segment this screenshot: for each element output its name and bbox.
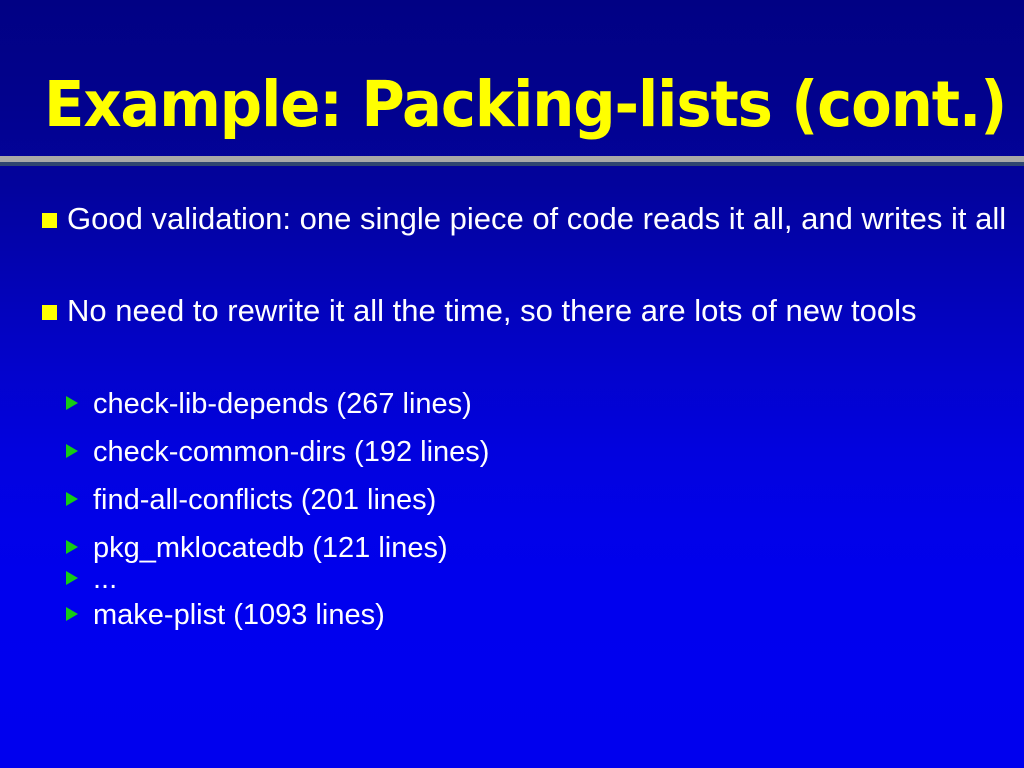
triangle-bullet-icon [66,444,78,458]
list-item: find-all-conflicts (201 lines) [66,480,966,520]
square-bullet-icon [42,305,57,320]
list-item: check-common-dirs (192 lines) [66,432,966,472]
triangle-bullet-icon [66,396,78,410]
square-bullet-icon [42,213,57,228]
list-item-label: Good validation: one single piece of cod… [67,201,1006,236]
slide-title-area: Example: Packing-lists (cont.) [0,68,1024,148]
list-item: Good validation: one single piece of cod… [0,196,1024,241]
slide-body: Good validation: one single piece of cod… [0,176,1024,768]
triangle-bullet-icon [66,571,78,585]
list-item-label: check-common-dirs (192 lines) [93,436,489,468]
list-item-label: make-plist (1093 lines) [93,599,385,631]
list-item-label: ... [93,563,117,595]
list-item-label: find-all-conflicts (201 lines) [93,484,436,516]
presentation-slide: Example: Packing-lists (cont.) Good vali… [0,0,1024,768]
list-item: ... [66,559,966,599]
triangle-bullet-icon [66,607,78,621]
list-item-label: check-lib-depends (267 lines) [93,388,472,420]
list-item: check-lib-depends (267 lines) [66,384,966,424]
title-divider-shadow [0,162,1024,166]
list-item: make-plist (1093 lines) [66,595,966,635]
list-item: No need to rewrite it all the time, so t… [0,288,1024,333]
list-item-label: No need to rewrite it all the time, so t… [67,293,916,328]
triangle-bullet-icon [66,540,78,554]
triangle-bullet-icon [66,492,78,506]
page-title: Example: Packing-lists (cont.) [44,68,1006,142]
